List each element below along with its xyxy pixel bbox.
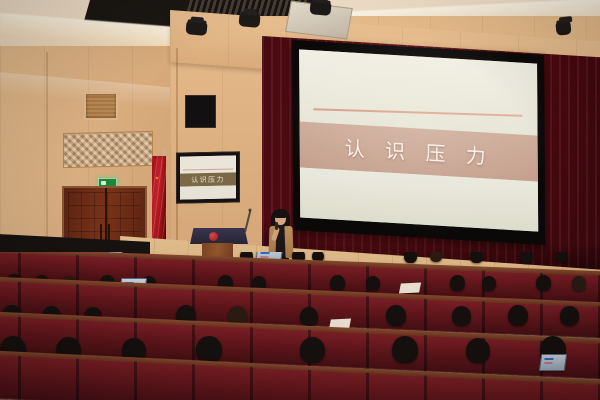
audience-head [366, 276, 380, 291]
monitor-surface: 认识压力 [180, 155, 236, 199]
monitor-bottom-panel [180, 186, 236, 200]
stage-spotlight-icon [309, 1, 331, 16]
audience-head [392, 336, 418, 363]
seated-audience [0, 252, 600, 400]
audience-head [452, 306, 471, 326]
audience-head [386, 305, 406, 326]
wall-vent-panel [84, 92, 118, 120]
audience-head [556, 252, 568, 262]
wall-loudspeaker-icon [185, 95, 216, 128]
audience-head [430, 252, 442, 262]
stage-spotlight-icon [238, 13, 260, 28]
presenter-hair-top [274, 210, 287, 218]
audience-head [330, 275, 345, 291]
audience-head [470, 252, 483, 263]
audience-head [404, 252, 417, 263]
audience-head [196, 336, 222, 363]
monitor-title-band: 认识压力 [180, 173, 236, 187]
audience-head [572, 276, 586, 291]
audience-head [482, 276, 496, 291]
audience-paper [399, 282, 421, 293]
wall-monitor: 认识压力 [176, 151, 240, 203]
audience-head [536, 275, 551, 291]
audience-laptop [539, 354, 567, 371]
audience-head [466, 338, 490, 363]
audience-head [520, 252, 533, 263]
podium-emblem [209, 232, 218, 241]
slide-title-text: 认 识 压 力 [345, 133, 493, 171]
main-projection-screen: 认 识 压 力 [292, 40, 545, 245]
handheld-microphone-icon [275, 222, 278, 230]
monitor-title-text: 认识压力 [191, 174, 225, 185]
screen-surface: 认 识 压 力 [299, 49, 538, 231]
stage-spotlight-icon [555, 21, 571, 35]
audience-head [300, 307, 318, 326]
audience-head [560, 306, 579, 326]
decorative-lattice-panel [63, 131, 153, 168]
audience-head [450, 275, 465, 291]
audience-head [300, 337, 325, 363]
stage-spotlight-icon [185, 21, 207, 36]
podium-top [190, 228, 248, 244]
audience-head [508, 305, 528, 326]
auditorium-photo: 认 识 压 力 认识压力 [0, 0, 600, 400]
